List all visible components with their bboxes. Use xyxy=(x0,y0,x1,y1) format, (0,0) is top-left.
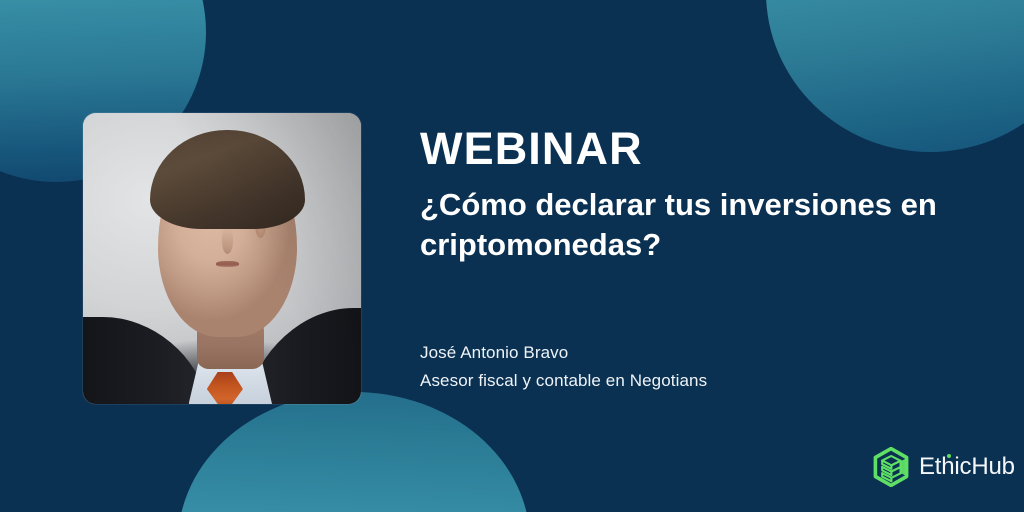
speaker-role: Asesor fiscal y contable en Negotians xyxy=(420,367,940,395)
brand-wordmark-text: EthicHub xyxy=(919,453,1015,480)
speaker-credit-block: José Antonio Bravo Asesor fiscal y conta… xyxy=(420,339,940,394)
page-title: ¿Cómo declarar tus inversiones en cripto… xyxy=(420,185,1000,266)
speaker-name: José Antonio Bravo xyxy=(420,339,940,367)
portrait-shading-overlay xyxy=(83,113,361,404)
headline-block: WEBINAR ¿Cómo declarar tus inversiones e… xyxy=(420,126,1000,265)
brand-wordmark-wrapper: EthicHub xyxy=(919,455,1015,479)
brand-i-dot-accent xyxy=(947,454,951,458)
decorative-circle-bottom-center xyxy=(178,392,530,512)
webinar-promo-banner: WEBINAR ¿Cómo declarar tus inversiones e… xyxy=(0,0,1024,512)
hexagon-stacked-layers-icon xyxy=(872,447,910,487)
brand-logo: EthicHub xyxy=(872,447,1015,487)
speaker-portrait xyxy=(83,113,361,404)
webinar-kicker: WEBINAR xyxy=(420,126,1000,173)
